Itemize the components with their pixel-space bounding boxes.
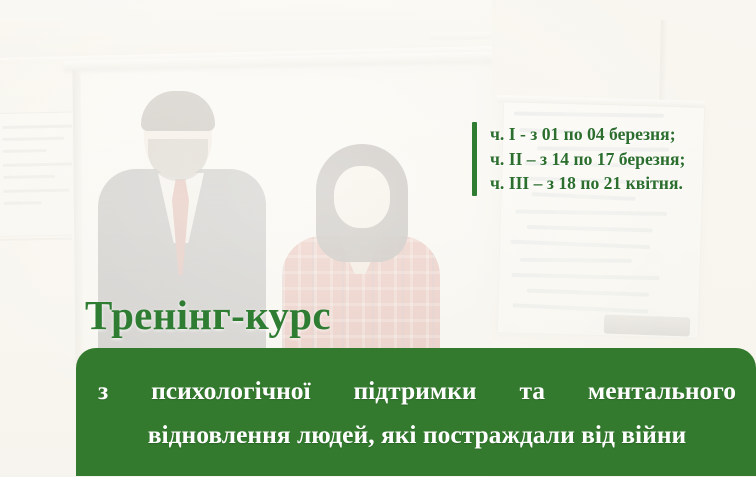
bottom-white-margin: [0, 477, 756, 500]
schedule-line-3: ч. III – з 18 по 21 квітня.: [490, 171, 685, 196]
subtitle-line-1: з психологічної підтримки та ментального: [98, 369, 736, 413]
subtitle-line-2: відновлення людей, які постраждали від в…: [98, 413, 736, 457]
schedule-block: ч. I - з 01 по 04 березня; ч. II – з 14 …: [472, 122, 685, 196]
schedule-accent-bar: [472, 122, 477, 196]
schedule-line-2: ч. II – з 14 по 17 березня;: [490, 147, 685, 172]
page-title: Тренінг-курс: [85, 292, 331, 339]
schedule-line-1: ч. I - з 01 по 04 березня;: [490, 122, 685, 147]
training-course-poster: ч. I - з 01 по 04 березня; ч. II – з 14 …: [0, 0, 756, 500]
schedule-lines: ч. I - з 01 по 04 березня; ч. II – з 14 …: [490, 122, 685, 196]
subtitle-banner: з психологічної підтримки та ментального…: [76, 348, 756, 476]
